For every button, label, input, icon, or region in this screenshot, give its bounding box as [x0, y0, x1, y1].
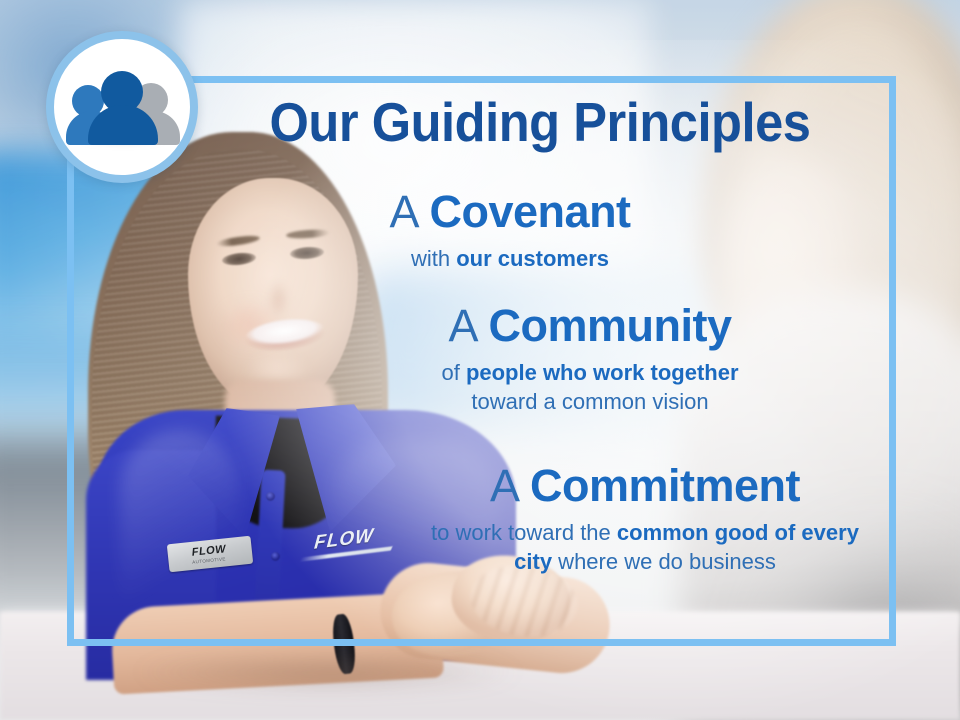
page-title: Our Guiding Principles	[227, 95, 853, 150]
principle-commitment: A Commitment to work toward the common g…	[420, 462, 870, 576]
principle-community-article: A	[448, 300, 476, 351]
principle-covenant-heading: A Covenant	[300, 188, 720, 235]
principle-community-subtext: of people who work togethertoward a comm…	[360, 358, 820, 416]
principle-covenant-sub-strong: our customers	[456, 246, 609, 271]
principle-covenant-subtext: with our customers	[300, 244, 720, 273]
principle-commitment-sub-lead: to work toward the	[431, 520, 617, 545]
principle-commitment-subtext: to work toward the common good of every …	[420, 518, 870, 576]
principle-community-keyword: Community	[489, 300, 732, 351]
principle-community-sub-lead: of	[441, 360, 465, 385]
principle-community-heading: A Community	[360, 302, 820, 349]
text-content: Our Guiding Principles A Covenant with o…	[0, 0, 960, 720]
principle-community-sub-strong: people who work together	[466, 360, 739, 385]
principle-community-sub-tail: toward a common vision	[471, 389, 708, 414]
principle-commitment-article: A	[490, 460, 518, 511]
principle-commitment-heading: A Commitment	[420, 462, 870, 509]
principle-commitment-sub-tail: where we do business	[552, 549, 776, 574]
principle-covenant-sub-lead: with	[411, 246, 456, 271]
principle-covenant: A Covenant with our customers	[300, 188, 720, 273]
principle-covenant-article: A	[389, 186, 417, 237]
principle-commitment-keyword: Commitment	[530, 460, 800, 511]
principle-covenant-keyword: Covenant	[430, 186, 631, 237]
principle-community: A Community of people who work togethert…	[360, 302, 820, 416]
guiding-principles-graphic: FLOW AUTOMOTIVE FLOW Our Guiding Princip…	[0, 0, 960, 720]
